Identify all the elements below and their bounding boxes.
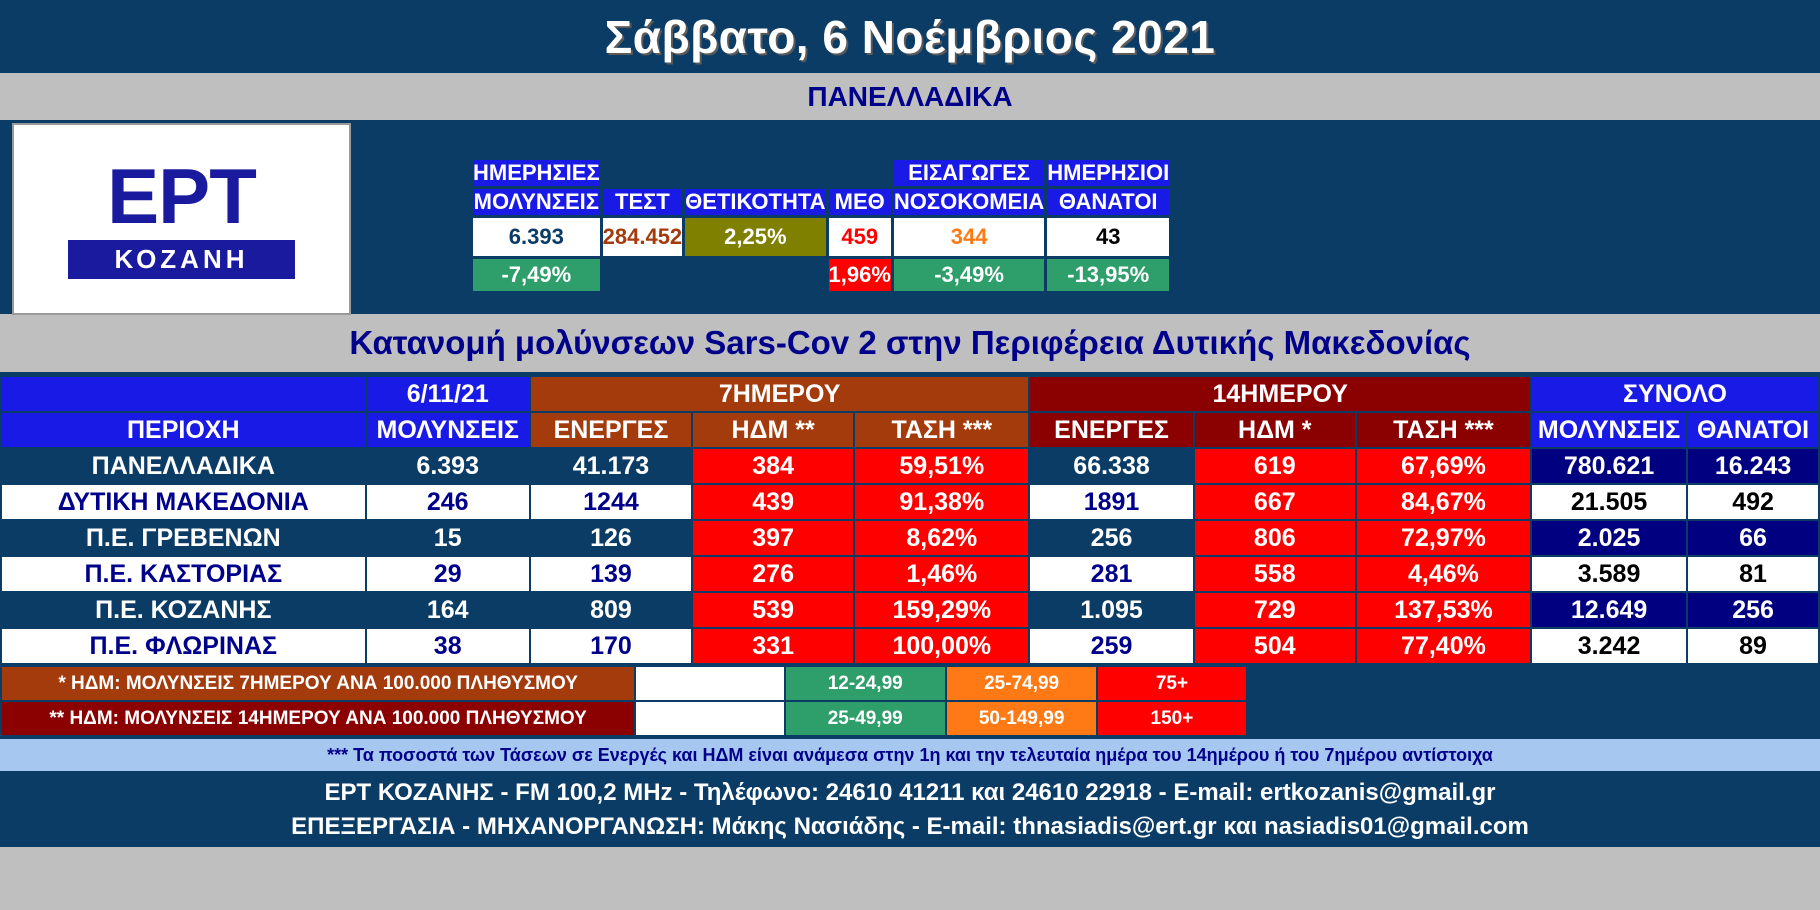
group-header-region bbox=[2, 377, 365, 411]
row-total-deaths: 256 bbox=[1688, 593, 1818, 627]
row-trend14: 84,67% bbox=[1357, 485, 1530, 519]
row-total-inf: 2.025 bbox=[1532, 521, 1686, 555]
row-total-inf: 12.649 bbox=[1532, 593, 1686, 627]
stats-col5-line2: ΘΑΝΑΤΟΙ bbox=[1047, 189, 1169, 215]
legend-row-7day: * ΗΔΜ: ΜΟΛΥΝΣΕΙΣ 7ΗΜΕΡΟΥ ΑΝΑ 100.000 ΠΛΗ… bbox=[2, 667, 1818, 700]
row-total-deaths: 16.243 bbox=[1688, 449, 1818, 483]
row-hdm7: 384 bbox=[693, 449, 853, 483]
legend-7day-spacer bbox=[1248, 667, 1818, 700]
col-header-region: ΠΕΡΙΟΧΗ bbox=[2, 413, 365, 447]
row-active14: 281 bbox=[1030, 557, 1192, 591]
table-row: Π.Ε. ΓΡΕΒΕΝΩΝ 15 126 397 8,62% 256 806 7… bbox=[2, 521, 1818, 555]
row-hdm14: 558 bbox=[1195, 557, 1355, 591]
row-daily: 38 bbox=[367, 629, 529, 663]
legend-7day-band-4: 75+ bbox=[1098, 667, 1245, 700]
row-total-inf: 21.505 bbox=[1532, 485, 1686, 519]
row-hdm7: 439 bbox=[693, 485, 853, 519]
row-trend14: 77,40% bbox=[1357, 629, 1530, 663]
stats-col0-line2: ΜΟΛΥΝΣΕΙΣ bbox=[473, 189, 600, 215]
row-hdm7: 539 bbox=[693, 593, 853, 627]
row-hdm14: 806 bbox=[1195, 521, 1355, 555]
row-total-deaths: 89 bbox=[1688, 629, 1818, 663]
stats-col3-line2: ΜΕΘ bbox=[829, 189, 891, 215]
stats-col2-line1 bbox=[685, 160, 825, 186]
col-header-hdm14: ΗΔΜ * bbox=[1195, 413, 1355, 447]
row-region: Π.Ε. ΦΛΩΡΙΝΑΣ bbox=[2, 629, 365, 663]
row-trend7: 159,29% bbox=[855, 593, 1028, 627]
row-daily: 6.393 bbox=[367, 449, 529, 483]
stats-header-row-2: ΜΟΛΥΝΣΕΙΣ ΤΕΣΤ ΘΕΤΙΚΟΤΗΤΑ ΜΕΘ ΝΟΣΟΚΟΜΕΙΑ… bbox=[473, 189, 1169, 215]
regional-table: 6/11/21 7ΗΜΕΡΟΥ 14ΗΜΕΡΟΥ ΣΥΝΟΛΟ ΠΕΡΙΟΧΗ … bbox=[0, 375, 1820, 665]
legend-table: * ΗΔΜ: ΜΟΛΥΝΣΕΙΣ 7ΗΜΕΡΟΥ ΑΝΑ 100.000 ΠΛΗ… bbox=[0, 665, 1820, 737]
row-hdm14: 619 bbox=[1195, 449, 1355, 483]
row-active14: 66.338 bbox=[1030, 449, 1192, 483]
row-hdm7: 331 bbox=[693, 629, 853, 663]
national-stats-table: ΗΜΕΡΗΣΙΕΣ ΕΙΣΑΓΩΓΕΣ ΗΜΕΡΗΣΙΟΙ ΜΟΛΥΝΣΕΙΣ … bbox=[470, 157, 1172, 294]
row-trend7: 91,38% bbox=[855, 485, 1028, 519]
row-active14: 1.095 bbox=[1030, 593, 1192, 627]
section-title-bar: Κατανομή μολύνσεων Sars-Cov 2 στην Περιφ… bbox=[0, 314, 1820, 375]
stat-admissions-value: 344 bbox=[894, 218, 1044, 256]
table-row: Π.Ε. ΚΟΖΑΝΗΣ 164 809 539 159,29% 1.095 7… bbox=[2, 593, 1818, 627]
row-active14: 259 bbox=[1030, 629, 1192, 663]
col-header-trend14: ΤΑΣΗ *** bbox=[1357, 413, 1530, 447]
stat-icu-value: 459 bbox=[829, 218, 891, 256]
legend-14day-band-1: 0-24,99 bbox=[636, 702, 783, 735]
stat-daily-infections-delta: -7,49% bbox=[473, 259, 600, 291]
row-active7: 41.173 bbox=[531, 449, 691, 483]
row-active7: 809 bbox=[531, 593, 691, 627]
subtitle-bar: ΠΑΝΕΛΛΑΔΙΚΑ bbox=[0, 73, 1820, 123]
legend-14day-band-4: 150+ bbox=[1098, 702, 1245, 735]
row-region: ΔΥΤΙΚΗ ΜΑΚΕΔΟΝΙΑ bbox=[2, 485, 365, 519]
ert-kozani-logo: ΕΡΤ ΚΟΖΑΝΗ bbox=[12, 123, 351, 315]
row-total-inf: 780.621 bbox=[1532, 449, 1686, 483]
footer: ΕΡΤ ΚΟΖΑΝΗΣ - FM 100,2 MHz - Τηλέφωνο: 2… bbox=[0, 773, 1820, 847]
stats-col3-line1 bbox=[829, 160, 891, 186]
legend-14day-band-3: 50-149,99 bbox=[947, 702, 1096, 735]
row-active14: 256 bbox=[1030, 521, 1192, 555]
row-hdm7: 397 bbox=[693, 521, 853, 555]
row-trend14: 67,69% bbox=[1357, 449, 1530, 483]
group-header-7day: 7ΗΜΕΡΟΥ bbox=[531, 377, 1029, 411]
stat-admissions-delta: -3,49% bbox=[894, 259, 1044, 291]
row-total-deaths: 66 bbox=[1688, 521, 1818, 555]
trend-footnote: *** Τα ποσοστά των Τάσεων σε Ενεργές και… bbox=[0, 737, 1820, 773]
row-trend14: 72,97% bbox=[1357, 521, 1530, 555]
section-title: Κατανομή μολύνσεων Sars-Cov 2 στην Περιφ… bbox=[349, 324, 1470, 362]
row-daily: 15 bbox=[367, 521, 529, 555]
group-header-total: ΣΥΝΟΛΟ bbox=[1532, 377, 1818, 411]
stats-col2-line2: ΘΕΤΙΚΟΤΗΤΑ bbox=[685, 189, 825, 215]
date-title-bar: Σάββατο, 6 Νοέμβριος 2021 bbox=[0, 0, 1820, 73]
legend-7day-band-2: 12-24,99 bbox=[786, 667, 945, 700]
row-trend7: 100,00% bbox=[855, 629, 1028, 663]
row-daily: 246 bbox=[367, 485, 529, 519]
stat-tests-value: 284.452 bbox=[603, 218, 683, 256]
row-active7: 1244 bbox=[531, 485, 691, 519]
col-header-active7: ΕΝΕΡΓΕΣ bbox=[531, 413, 691, 447]
row-trend14: 137,53% bbox=[1357, 593, 1530, 627]
col-header-trend7: ΤΑΣΗ *** bbox=[855, 413, 1028, 447]
row-total-inf: 3.589 bbox=[1532, 557, 1686, 591]
col-header-daily: ΜΟΛΥΝΣΕΙΣ bbox=[367, 413, 529, 447]
col-header-hdm7: ΗΔΜ ** bbox=[693, 413, 853, 447]
row-daily: 29 bbox=[367, 557, 529, 591]
national-stats-band: ΕΡΤ ΚΟΖΑΝΗ ΗΜΕΡΗΣΙΕΣ ΕΙΣΑΓΩΓΕΣ ΗΜΕΡΗΣΙΟΙ… bbox=[0, 123, 1820, 314]
row-total-inf: 3.242 bbox=[1532, 629, 1686, 663]
footer-contact-line: ΕΡΤ ΚΟΖΑΝΗΣ - FM 100,2 MHz - Τηλέφωνο: 2… bbox=[325, 779, 1496, 807]
legend-label-7day: * ΗΔΜ: ΜΟΛΥΝΣΕΙΣ 7ΗΜΕΡΟΥ ΑΝΑ 100.000 ΠΛΗ… bbox=[2, 667, 634, 700]
stats-header-row-1: ΗΜΕΡΗΣΙΕΣ ΕΙΣΑΓΩΓΕΣ ΗΜΕΡΗΣΙΟΙ bbox=[473, 160, 1169, 186]
table-row: ΔΥΤΙΚΗ ΜΑΚΕΔΟΝΙΑ 246 1244 439 91,38% 189… bbox=[2, 485, 1818, 519]
stats-value-row: 6.393 284.452 2,25% 459 344 43 bbox=[473, 218, 1169, 256]
stat-daily-deaths-value: 43 bbox=[1047, 218, 1169, 256]
page-title: Σάββατο, 6 Νοέμβριος 2021 bbox=[605, 10, 1216, 64]
legend-14day-spacer bbox=[1248, 702, 1818, 735]
legend-7day-band-1: 0-11,99 bbox=[636, 667, 783, 700]
table-row: Π.Ε. ΦΛΩΡΙΝΑΣ 38 170 331 100,00% 259 504… bbox=[2, 629, 1818, 663]
legend-7day-band-3: 25-74,99 bbox=[947, 667, 1096, 700]
row-active7: 170 bbox=[531, 629, 691, 663]
stats-col1-line2: ΤΕΣΤ bbox=[603, 189, 683, 215]
row-region: Π.Ε. ΚΟΖΑΝΗΣ bbox=[2, 593, 365, 627]
stats-col4-line1: ΕΙΣΑΓΩΓΕΣ bbox=[894, 160, 1044, 186]
row-active7: 126 bbox=[531, 521, 691, 555]
row-hdm7: 276 bbox=[693, 557, 853, 591]
regional-table-wrap: 6/11/21 7ΗΜΕΡΟΥ 14ΗΜΕΡΟΥ ΣΥΝΟΛΟ ΠΕΡΙΟΧΗ … bbox=[0, 375, 1820, 737]
row-active14: 1891 bbox=[1030, 485, 1192, 519]
row-hdm14: 729 bbox=[1195, 593, 1355, 627]
logo-kozani-text: ΚΟΖΑΝΗ bbox=[68, 240, 294, 279]
row-hdm14: 504 bbox=[1195, 629, 1355, 663]
row-hdm14: 667 bbox=[1195, 485, 1355, 519]
stats-col4-line2: ΝΟΣΟΚΟΜΕΙΑ bbox=[894, 189, 1044, 215]
row-daily: 164 bbox=[367, 593, 529, 627]
stats-col5-line1: ΗΜΕΡΗΣΙΟΙ bbox=[1047, 160, 1169, 186]
stat-positivity-value: 2,25% bbox=[685, 218, 825, 256]
row-trend7: 1,46% bbox=[855, 557, 1028, 591]
subtitle: ΠΑΝΕΛΛΑΔΙΚΑ bbox=[807, 81, 1012, 113]
row-region: Π.Ε. ΓΡΕΒΕΝΩΝ bbox=[2, 521, 365, 555]
stat-daily-deaths-delta: -13,95% bbox=[1047, 259, 1169, 291]
group-header-row: 6/11/21 7ΗΜΕΡΟΥ 14ΗΜΕΡΟΥ ΣΥΝΟΛΟ bbox=[2, 377, 1818, 411]
legend-14day-band-2: 25-49,99 bbox=[786, 702, 945, 735]
group-header-14day: 14ΗΜΕΡΟΥ bbox=[1030, 377, 1530, 411]
legend-label-14day: ** ΗΔΜ: ΜΟΛΥΝΣΕΙΣ 14ΗΜΕΡΟΥ ΑΝΑ 100.000 Π… bbox=[2, 702, 634, 735]
column-header-row: ΠΕΡΙΟΧΗ ΜΟΛΥΝΣΕΙΣ ΕΝΕΡΓΕΣ ΗΔΜ ** ΤΑΣΗ **… bbox=[2, 413, 1818, 447]
stat-daily-infections-value: 6.393 bbox=[473, 218, 600, 256]
dashboard-page: Σάββατο, 6 Νοέμβριος 2021 ΠΑΝΕΛΛΑΔΙΚΑ ΕΡ… bbox=[0, 0, 1820, 910]
group-header-date: 6/11/21 bbox=[367, 377, 529, 411]
stat-tests-delta bbox=[603, 259, 683, 291]
stats-col1-line1 bbox=[603, 160, 683, 186]
row-region: ΠΑΝΕΛΛΑΔΙΚΑ bbox=[2, 449, 365, 483]
row-region: Π.Ε. ΚΑΣΤΟΡΙΑΣ bbox=[2, 557, 365, 591]
footer-credits-line: ΕΠΕΞΕΡΓΑΣΙΑ - ΜΗΧΑΝΟΡΓΑΝΩΣΗ: Μάκης Νασιά… bbox=[291, 813, 1529, 841]
col-header-total-deaths: ΘΑΝΑΤΟΙ bbox=[1688, 413, 1818, 447]
table-row: Π.Ε. ΚΑΣΤΟΡΙΑΣ 29 139 276 1,46% 281 558 … bbox=[2, 557, 1818, 591]
row-total-deaths: 492 bbox=[1688, 485, 1818, 519]
legend-row-14day: ** ΗΔΜ: ΜΟΛΥΝΣΕΙΣ 14ΗΜΕΡΟΥ ΑΝΑ 100.000 Π… bbox=[2, 702, 1818, 735]
logo-ept-text: ΕΡΤ bbox=[107, 159, 256, 233]
col-header-active14: ΕΝΕΡΓΕΣ bbox=[1030, 413, 1192, 447]
row-trend7: 8,62% bbox=[855, 521, 1028, 555]
stat-positivity-delta bbox=[685, 259, 825, 291]
row-trend7: 59,51% bbox=[855, 449, 1028, 483]
table-row: ΠΑΝΕΛΛΑΔΙΚΑ 6.393 41.173 384 59,51% 66.3… bbox=[2, 449, 1818, 483]
col-header-total-inf: ΜΟΛΥΝΣΕΙΣ bbox=[1532, 413, 1686, 447]
row-active7: 139 bbox=[531, 557, 691, 591]
stat-icu-delta: 1,96% bbox=[829, 259, 891, 291]
row-total-deaths: 81 bbox=[1688, 557, 1818, 591]
stats-col0-line1: ΗΜΕΡΗΣΙΕΣ bbox=[473, 160, 600, 186]
stats-delta-row: -7,49% 1,96% -3,49% -13,95% bbox=[473, 259, 1169, 291]
row-trend14: 4,46% bbox=[1357, 557, 1530, 591]
